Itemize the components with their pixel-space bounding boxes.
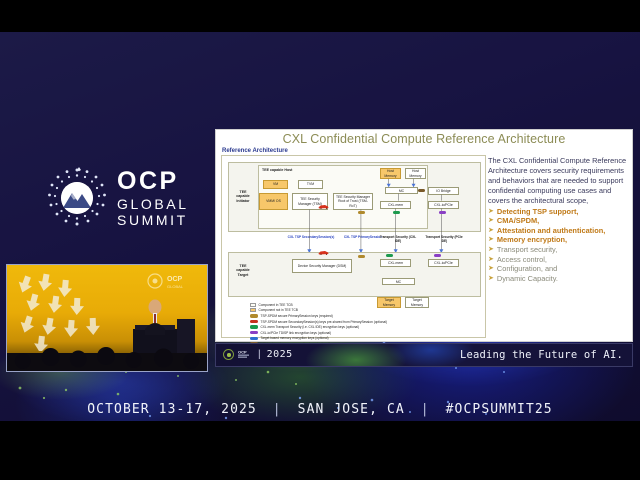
bullet-arrow-icon: ➤ [488,235,494,244]
legend-label: Component not in TEE TCB [259,308,298,312]
ocp-wordmark: OCP GLOBAL SUMMIT [117,169,189,227]
slide-bullet-item: ➤Dynamic Capacity. [488,274,630,284]
ocp-starburst-icon [46,167,108,229]
legend-label: TSP-SPDM secure PrimarySession keys (req… [261,314,333,318]
key-pcie-ide-host [439,211,446,214]
ocp-mountain-icon [61,182,93,214]
ocp-logo: OCP GLOBAL SUMMIT [46,160,206,236]
architecture-diagram: TEEcapableInitiator TEE capable Host VM … [221,155,486,338]
banner-separator-2: | [414,402,437,417]
slide-bullet-list: ➤Detecting TSP support,➤CMA/SPDM,➤Attest… [488,207,630,284]
slide-bullet-label: Memory encryption, [497,235,567,245]
slide-bullet-label: Detecting TSP support, [497,207,579,217]
legend-label: CXL.mem Transport Security (i.e. CXL IDE… [261,325,360,329]
slide-bullet-label: Transport security, [497,245,557,255]
legend-swatch-icon [250,303,256,307]
legend-label: TSP-SPDM secure SecondarySession(s) keys… [261,320,387,324]
footer-year: 2025 [267,349,293,360]
target-cxl-io-pcie-box: CXL.io/PCIe [428,259,459,267]
slide-bullet-label: Access control, [497,255,547,265]
slide-bullet-item: ➤Attestation and authentication, [488,226,630,236]
letterbox-bottom [0,421,640,480]
key-pcie-ide-target [434,254,441,257]
event-dates: OCTOBER 13-17, 2025 [87,402,257,417]
event-banner-text: OCTOBER 13-17, 2025 | SAN JOSE, CA | #OC… [0,402,640,417]
slide-bullet-item: ➤Detecting TSP support, [488,207,630,217]
diagram-legend: Component in TEE TCBComponent not in TEE… [250,302,482,347]
legend-label: Component in TEE TCB [259,303,293,307]
footer-tagline: Leading the Future of AI. [460,349,623,361]
key-cxl-ide-target [386,254,393,257]
footer-ocp-mark-icon [223,349,234,360]
slide-bullet-item: ➤Access control, [488,255,630,265]
bullet-arrow-icon: ➤ [488,207,494,216]
video-frame: OCP GLOBAL SUMMIT [0,32,640,421]
slide-body-text: The CXL Confidential Compute Reference A… [488,156,630,284]
dsm-box: Device Security Manager (DSM) [292,259,352,273]
event-banner: OCTOBER 13-17, 2025 | SAN JOSE, CA | #OC… [0,392,640,421]
key-secondary-target-icon [318,250,329,255]
slide-title: CXL Confidential Compute Reference Archi… [216,132,632,146]
slide-subtitle: Reference Architecture [222,148,288,154]
slide-bullet-item: ➤Memory encryption, [488,235,630,245]
slide-bullet-item: ➤Transport security, [488,245,630,255]
key-mem-enc-host [418,189,425,192]
svg-text:GLOBAL: GLOBAL [167,284,184,289]
tee-capable-target-label: TEEcapableTarget [231,264,255,277]
bullet-arrow-icon: ➤ [488,255,494,264]
presentation-slide: CXL Confidential Compute Reference Archi… [215,129,633,342]
backdrop-ocp-logo-icon: OCP GLOBAL [145,273,197,293]
legend-label: Target based memory encryption keys (opt… [261,336,329,340]
slide-bullet-item: ➤CMA/SPDM, [488,216,630,226]
svg-text:OCP: OCP [167,276,183,283]
audience-silhouettes [7,337,207,371]
presenter-video-thumbnail: OCP GLOBAL [6,264,208,372]
target-cxl-mem-box: CXL.mem [380,259,411,267]
slide-bullet-label: Attestation and authentication, [497,226,605,236]
target-mc-box: MC [382,278,415,285]
event-location: SAN JOSE, CA [298,402,405,417]
ocp-wordmark-line3: SUMMIT [117,213,189,227]
footer-brand: OCP | 2025 [223,349,293,360]
legend-swatch-icon [250,308,256,312]
key-primary-target [358,255,365,258]
footer-ocp-wordmark-icon: OCP [238,349,252,360]
bullet-arrow-icon: ➤ [488,245,494,254]
key-primary-host [358,211,365,214]
footer-divider: | [258,349,261,360]
ocp-wordmark-line1: OCP [117,169,189,194]
key-secondary-host-icon [318,204,329,209]
bullet-arrow-icon: ➤ [488,216,494,225]
legend-key-icon [250,337,258,340]
ocp-wordmark-line2: GLOBAL [117,197,189,211]
key-cxl-ide-host [393,211,400,214]
bullet-arrow-icon: ➤ [488,226,494,235]
legend-key-icon [250,314,258,317]
legend-label: CXL.io/PCIe TDISP link encryption keys (… [261,331,332,335]
slide-bullet-label: CMA/SPDM, [497,216,539,226]
bullet-arrow-icon: ➤ [488,264,494,273]
legend-key-icon [250,325,258,328]
slide-bullet-item: ➤Configuration, and [488,264,630,274]
slide-footer-bar: OCP | 2025 Leading the Future of AI. [215,343,633,367]
letterbox-top [0,0,640,32]
legend-key-icon [250,331,258,334]
bullet-arrow-icon: ➤ [488,274,494,283]
slide-intro-paragraph: The CXL Confidential Compute Reference A… [488,156,630,206]
event-hashtag: #OCPSUMMIT25 [446,402,553,417]
legend-key-icon [250,320,258,323]
banner-separator-1: | [266,402,289,417]
svg-text:OCP: OCP [238,349,247,354]
slide-bullet-label: Configuration, and [497,264,557,274]
slide-bullet-label: Dynamic Capacity. [497,274,558,284]
screen-root: OCP GLOBAL SUMMIT [0,0,640,480]
